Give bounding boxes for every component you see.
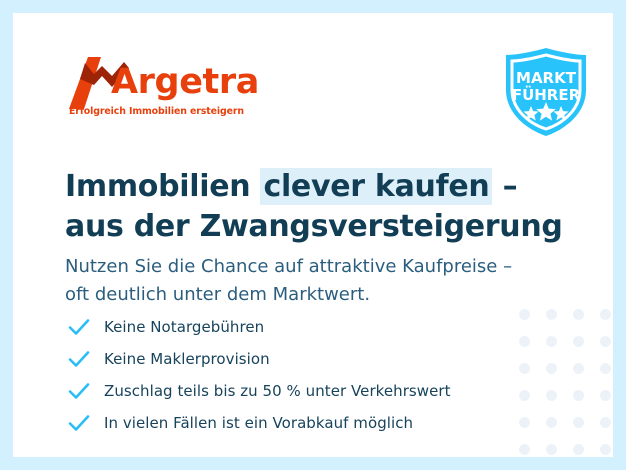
- list-item: Keine Notargebühren: [68, 311, 538, 343]
- argetra-logo[interactable]: Argetra Erfolgreich Immobilien ersteiger…: [67, 57, 227, 119]
- decoration-dot: [600, 417, 611, 428]
- benefits-list: Keine Notargebühren Keine Maklerprovisio…: [68, 311, 538, 439]
- decoration-dot: [546, 363, 557, 374]
- list-item: Zuschlag teils bis zu 50 % unter Verkehr…: [68, 375, 538, 407]
- benefit-label: Keine Maklerprovision: [104, 350, 270, 368]
- decoration-dot: [546, 417, 557, 428]
- badge-line2-text: FÜHRER: [512, 85, 581, 104]
- market-leader-badge: MARKT FÜHRER: [502, 46, 590, 138]
- decoration-dot: [573, 363, 584, 374]
- logo-tagline: Erfolgreich Immobilien ersteigern: [69, 106, 244, 117]
- decoration-dot: [600, 444, 611, 455]
- check-icon: [68, 316, 90, 338]
- headline-part2: –: [492, 169, 517, 204]
- benefit-label: In vielen Fällen ist ein Vorabkauf mögli…: [104, 414, 413, 432]
- headline: Immobilien clever kaufen – aus der Zwang…: [65, 167, 585, 246]
- benefit-label: Keine Notargebühren: [104, 318, 264, 336]
- badge-line1-text: MARKT: [516, 69, 577, 87]
- decoration-dot: [573, 336, 584, 347]
- decoration-dot: [600, 390, 611, 401]
- benefit-label: Zuschlag teils bis zu 50 % unter Verkehr…: [104, 382, 451, 400]
- decoration-dot: [546, 309, 557, 320]
- check-icon: [68, 412, 90, 434]
- headline-line2: aus der Zwangsversteigerung: [65, 207, 585, 247]
- subheadline-line2: oft deutlich unter dem Marktwert.: [65, 281, 585, 309]
- decoration-dot: [600, 309, 611, 320]
- banner-card: Argetra Erfolgreich Immobilien ersteiger…: [13, 13, 613, 457]
- decoration-dot: [573, 309, 584, 320]
- subheadline: Nutzen Sie die Chance auf attraktive Kau…: [65, 253, 585, 310]
- decoration-dot: [573, 417, 584, 428]
- decoration-dot: [600, 363, 611, 374]
- logo-wordmark: Argetra: [111, 65, 259, 100]
- decoration-dot: [546, 390, 557, 401]
- promo-banner: Argetra Erfolgreich Immobilien ersteiger…: [0, 0, 626, 470]
- list-item: In vielen Fällen ist ein Vorabkauf mögli…: [68, 407, 538, 439]
- decoration-dot: [519, 444, 530, 455]
- headline-part1: Immobilien: [65, 169, 260, 204]
- decoration-dot: [573, 390, 584, 401]
- decoration-dot: [600, 336, 611, 347]
- decoration-dot: [546, 336, 557, 347]
- list-item: Keine Maklerprovision: [68, 343, 538, 375]
- decoration-dot: [573, 444, 584, 455]
- check-icon: [68, 348, 90, 370]
- check-icon: [68, 380, 90, 402]
- subheadline-line1: Nutzen Sie die Chance auf attraktive Kau…: [65, 256, 512, 277]
- decoration-dot: [546, 444, 557, 455]
- headline-highlight: clever kaufen: [260, 168, 492, 205]
